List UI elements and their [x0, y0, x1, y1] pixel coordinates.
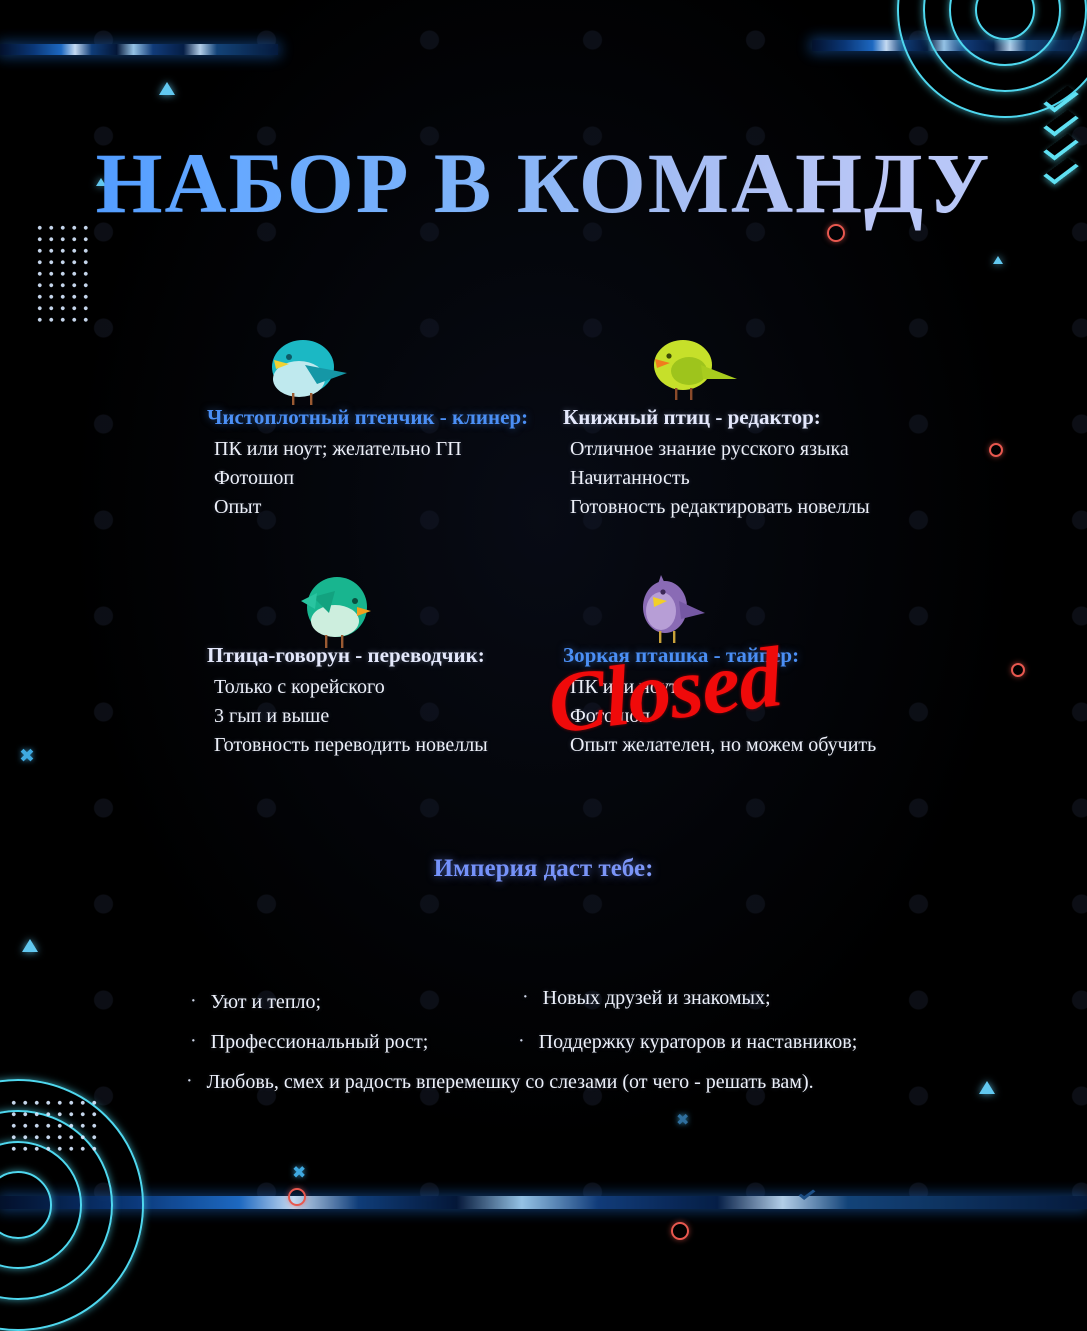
- dot-grid-bottom-left: [8, 1097, 100, 1155]
- list-item: Готовность переводить новеллы: [207, 731, 607, 760]
- list-item: · Новых друзей и знакомых;: [522, 987, 771, 1010]
- circle-outline-icon: [1011, 663, 1025, 677]
- bullet-icon: ·: [518, 1031, 525, 1051]
- bullet-icon: ·: [522, 987, 529, 1007]
- role-heading-editor: Книжный птиц - редактор:: [563, 405, 963, 430]
- bottom-glow-bar: [0, 1196, 1087, 1209]
- top-right-glow-bar: [812, 40, 1087, 51]
- bird-yellow-green-icon: [645, 335, 737, 405]
- x-mark-icon: ✖: [676, 1112, 689, 1128]
- perk-label: Любовь, смех и радость вперемешку со сле…: [207, 1071, 814, 1094]
- triangle-icon: [993, 256, 1003, 264]
- perk-label: Поддержку кураторов и наставников;: [539, 1031, 858, 1054]
- perks-list: · Уют и тепло; · Профессиональный рост; …: [0, 923, 1087, 1043]
- x-mark-icon: ✖: [19, 747, 35, 766]
- list-item: · Профессиональный рост;: [190, 1031, 428, 1054]
- list-item: Готовность редактировать новеллы: [563, 493, 963, 522]
- role-requirements-editor: Отличное знание русского языка Начитанно…: [563, 435, 963, 522]
- bird-green-round-icon: [295, 573, 379, 649]
- list-item: · Поддержку кураторов и наставников;: [518, 1031, 857, 1054]
- perk-label: Новых друзей и знакомых;: [543, 987, 771, 1010]
- list-item: ПК или ноут; желательно ГП: [207, 435, 607, 464]
- circle-outline-icon: [671, 1222, 689, 1240]
- list-item: · Уют и тепло;: [190, 991, 321, 1014]
- list-item: Опыт: [207, 493, 607, 522]
- top-left-glow-bar: [0, 44, 278, 55]
- perk-label: Профессиональный рост;: [211, 1031, 429, 1054]
- role-requirements-cleaner: ПК или ноут; желательно ГП Фотошоп Опыт: [207, 435, 607, 522]
- list-item: · Любовь, смех и радость вперемешку со с…: [186, 1071, 814, 1094]
- bullet-icon: ·: [186, 1071, 193, 1091]
- bird-teal-cyan-icon: [265, 335, 351, 407]
- list-item: 3 гып и выше: [207, 702, 607, 731]
- perk-label: Уют и тепло;: [211, 991, 321, 1014]
- circle-outline-icon: [989, 443, 1003, 457]
- x-mark-icon: ✖: [292, 1165, 306, 1182]
- dot-grid-left: [34, 222, 92, 326]
- bullet-icon: ·: [190, 1031, 197, 1051]
- role-block-editor: Книжный птиц - редактор: Отличное знание…: [563, 405, 963, 522]
- list-item: Начитанность: [563, 464, 963, 493]
- perks-title: Империя даст тебе:: [0, 855, 1087, 883]
- role-heading-cleaner: Чистоплотный птенчик - клинер:: [207, 405, 607, 430]
- page-title: НАБОР В КОМАНДУ: [0, 133, 1087, 233]
- perks-section: Империя даст тебе: · Уют и тепло; · Проф…: [0, 855, 1087, 1043]
- circle-outline-icon: [288, 1188, 306, 1206]
- list-item: Отличное знание русского языка: [563, 435, 963, 464]
- list-item: Фотошоп: [207, 464, 607, 493]
- triangle-icon: [159, 82, 175, 95]
- bullet-icon: ·: [190, 991, 197, 1011]
- role-block-cleaner: Чистоплотный птенчик - клинер: ПК или но…: [207, 405, 607, 522]
- triangle-icon: [979, 1081, 995, 1094]
